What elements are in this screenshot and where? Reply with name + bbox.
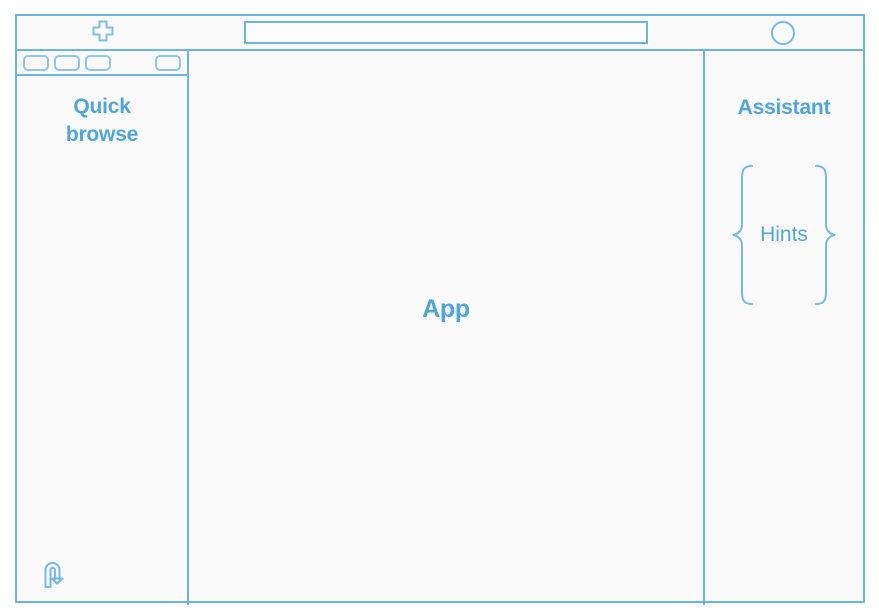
avatar-circle-icon	[771, 21, 795, 45]
app-label: App	[422, 295, 470, 324]
app-content-area[interactable]: App	[189, 51, 703, 605]
window-body: Quick browse App Assistant	[17, 51, 863, 605]
account-button[interactable]	[703, 16, 863, 49]
hints-label: Hints	[760, 223, 808, 247]
sidebar-item-mini-tab-1[interactable]	[23, 55, 49, 71]
hints-group: Hints	[730, 164, 838, 306]
sidebar-item-mini-tab-2[interactable]	[54, 55, 80, 71]
sidebar-title-line-2: browse	[25, 121, 179, 149]
sidebar-title: Quick browse	[17, 93, 187, 149]
plus-icon	[89, 19, 117, 47]
assistant-title: Assistant	[738, 96, 831, 120]
new-tab-button[interactable]	[17, 16, 189, 49]
sidebar-footer	[17, 557, 187, 591]
left-curly-brace-icon	[730, 164, 756, 306]
right-curly-brace-icon	[812, 164, 838, 306]
assistant-panel: Assistant Hints	[703, 51, 863, 605]
browser-chrome-bar	[17, 16, 863, 51]
sidebar-item-mini-tab-3[interactable]	[85, 55, 111, 71]
sidebar-item-mini-tab-4[interactable]	[155, 55, 181, 71]
address-search-input[interactable]	[244, 21, 648, 44]
sidebar-tab-strip	[17, 51, 187, 76]
quick-browse-sidebar: Quick browse	[17, 51, 189, 605]
address-bar-region	[189, 16, 703, 49]
browser-window-frame: Quick browse App Assistant	[15, 14, 865, 603]
uturn-arrow-icon[interactable]	[39, 557, 187, 591]
sidebar-title-line-1: Quick	[73, 95, 130, 118]
